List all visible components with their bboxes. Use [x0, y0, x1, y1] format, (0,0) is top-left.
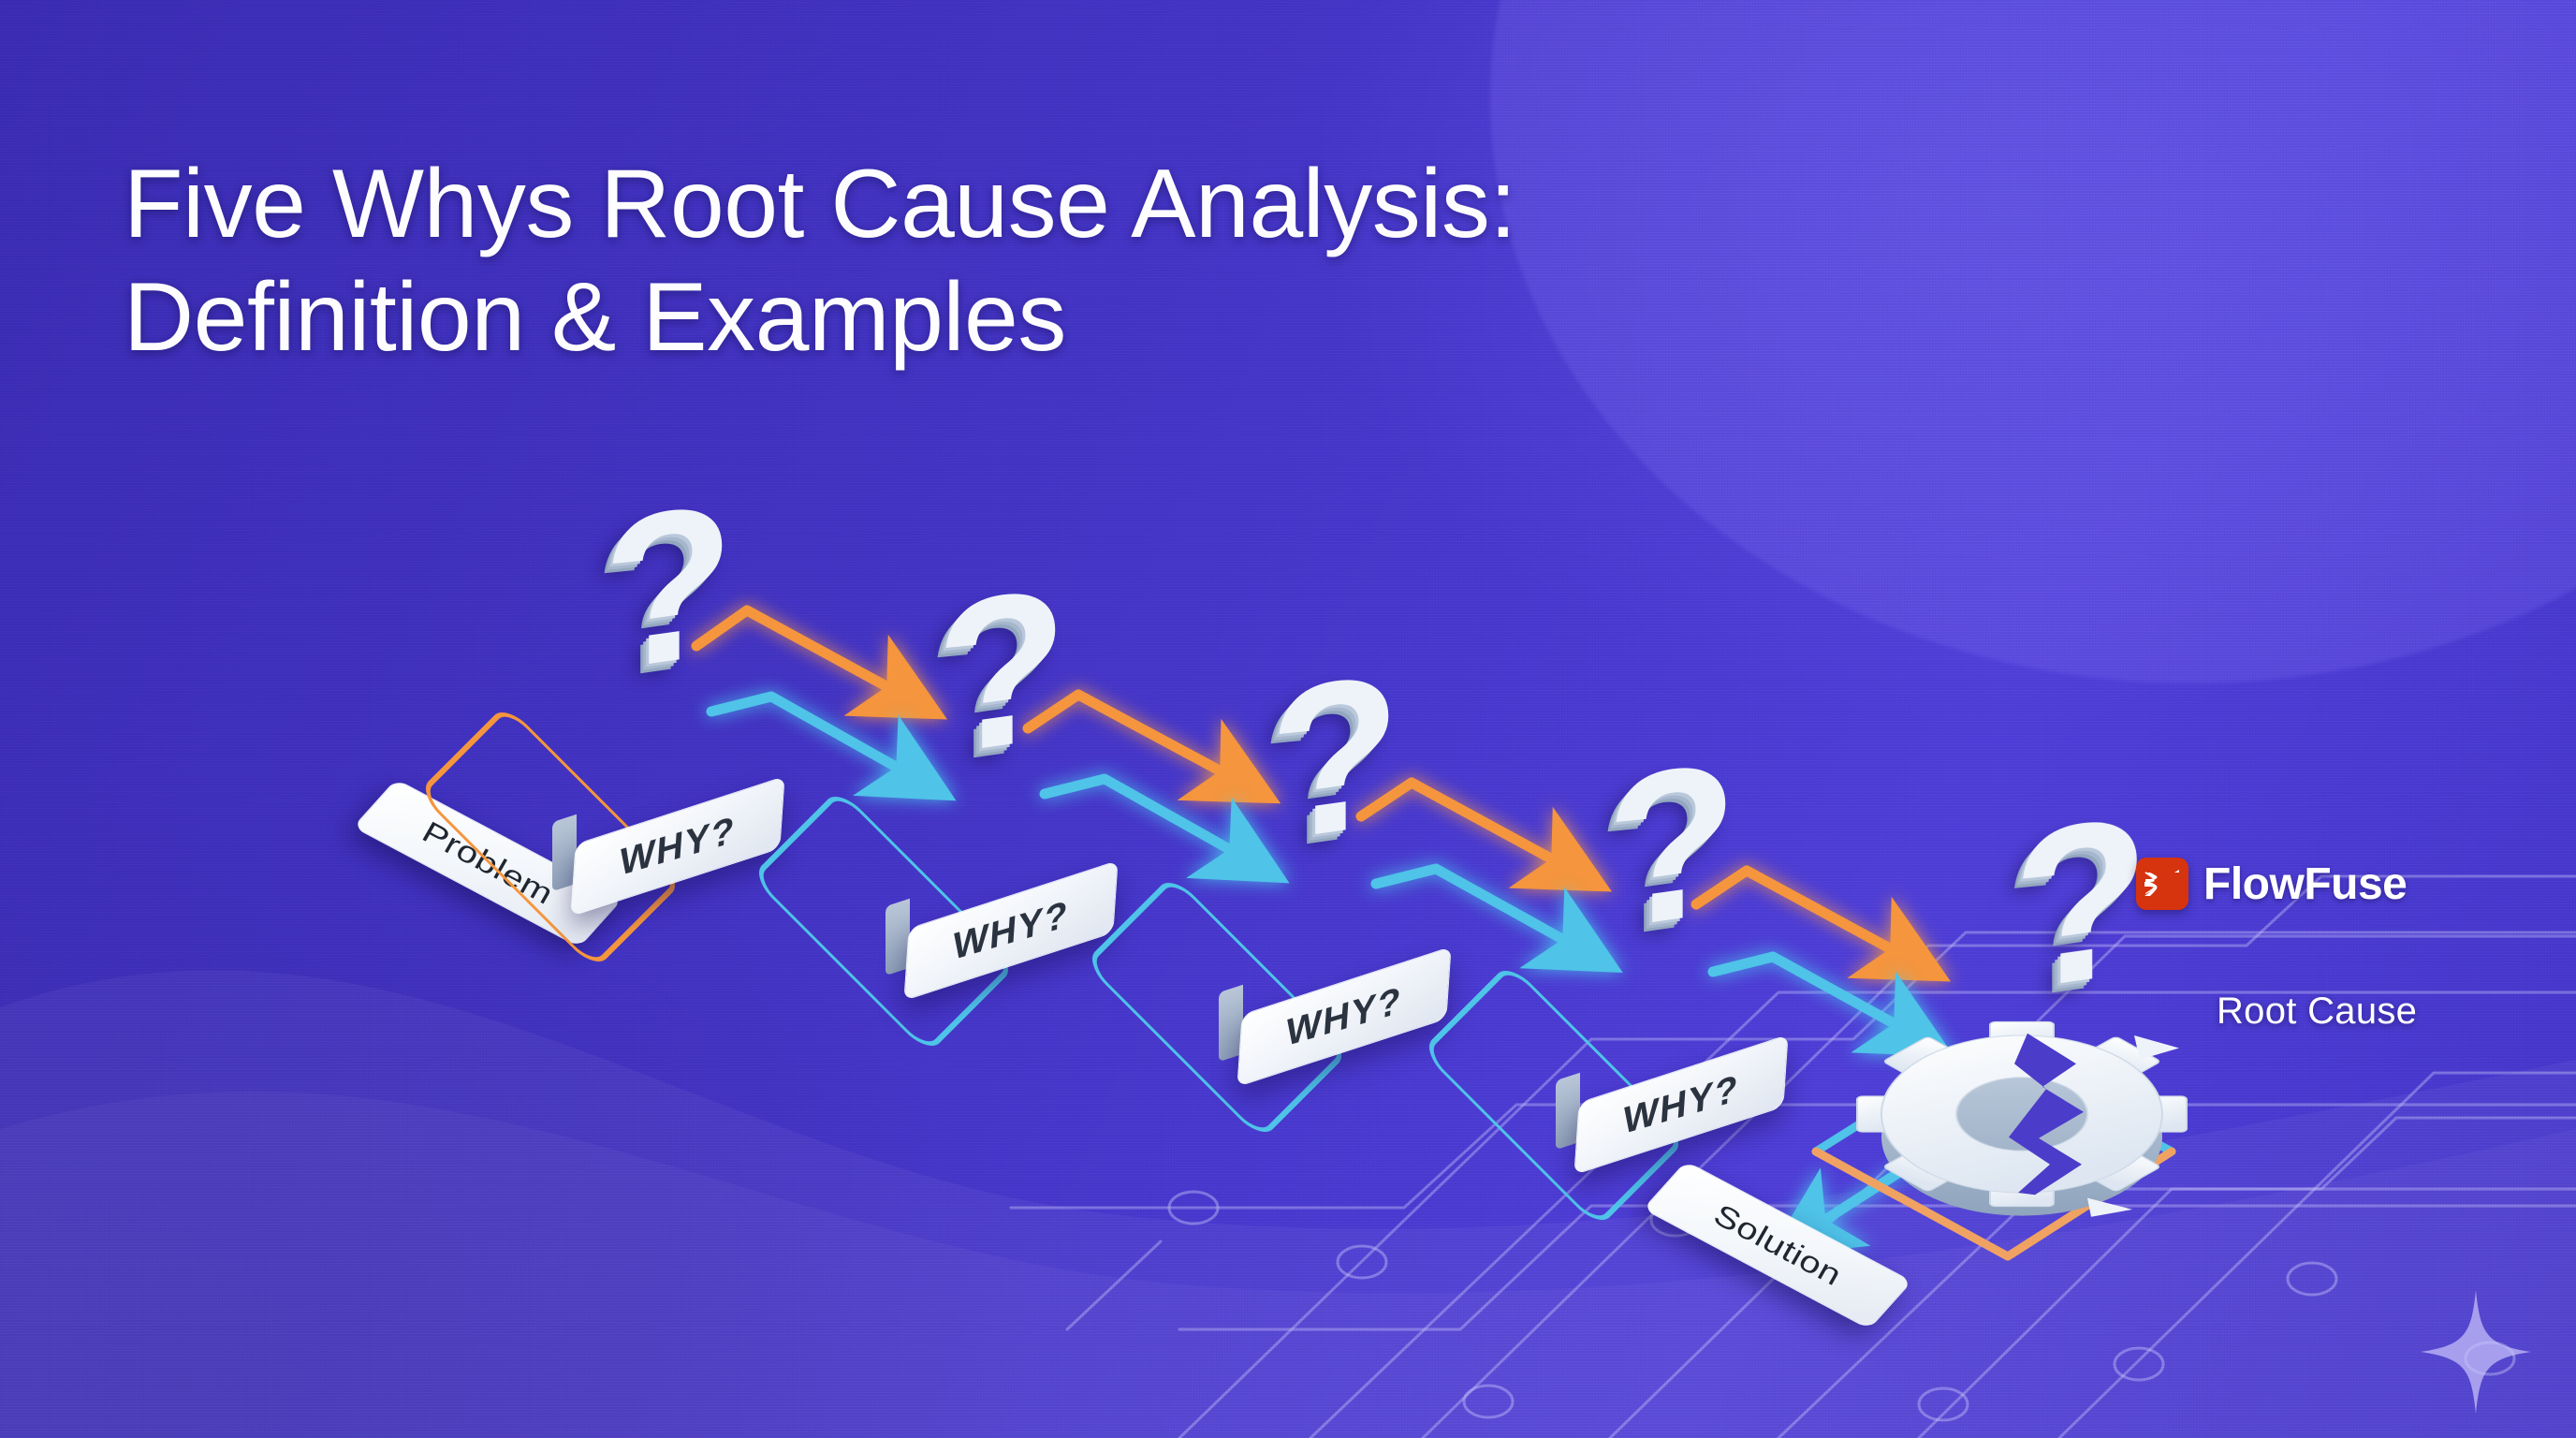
question-mark-icon: ? [603, 470, 735, 704]
solution-label: Solution [1708, 1197, 1848, 1292]
flowfuse-wordmark: FlowFuse [2203, 858, 2407, 910]
question-mark-icon: ? [936, 554, 1068, 788]
flowfuse-mark-icon [2136, 858, 2188, 910]
why-step-3-sign: WHY? [1239, 981, 1449, 1052]
why-step-4-sign: WHY? [1576, 1069, 1786, 1140]
root-cause-caption: Root Cause [2217, 990, 2417, 1033]
why-step-1-label: WHY? [619, 808, 738, 885]
why-step-2-sign: WHY? [906, 895, 1116, 966]
why-step-4-label: WHY? [1622, 1066, 1741, 1143]
why-step-1-sign: WHY? [573, 811, 783, 882]
flowfuse-logo: FlowFuse [2136, 858, 2407, 910]
why-step-2-label: WHY? [952, 892, 1071, 969]
question-mark-icon: ? [1269, 640, 1401, 874]
bowtie-glyph [2141, 862, 2184, 905]
question-mark-icon: ? [1606, 728, 1738, 962]
why-step-3-label: WHY? [1285, 978, 1404, 1055]
solution-tile: Solution [1649, 1206, 1906, 1284]
five-whys-diagram: Problem ? WHY? ? WHY? [0, 0, 2576, 1438]
hero-banner: Five Whys Root Cause Analysis: Definitio… [0, 0, 2576, 1438]
